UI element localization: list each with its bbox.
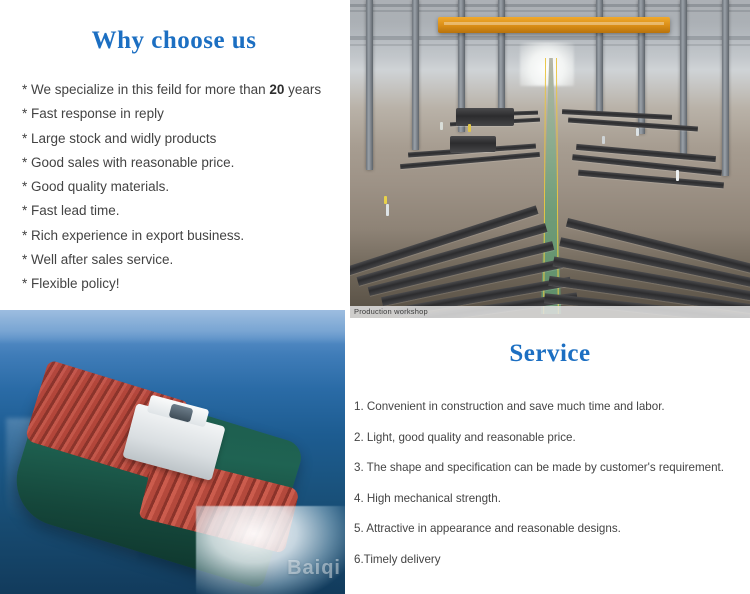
list-item: * Large stock and widly products <box>22 127 348 151</box>
list-item: * Well after sales service. <box>22 248 348 272</box>
worker-figure <box>468 124 471 132</box>
list-item: * Rich experience in export business. <box>22 224 348 248</box>
list-item: 3. The shape and specification can be ma… <box>354 453 750 484</box>
bullet-asterisk: * <box>22 179 31 194</box>
worker-figure <box>386 204 389 216</box>
list-item: * Fast response in reply <box>22 102 348 126</box>
bullet-asterisk: * <box>22 203 31 218</box>
list-item: * Good sales with reasonable price. <box>22 151 348 175</box>
bullet-asterisk: * <box>22 155 31 170</box>
far-doorway-light <box>520 42 574 86</box>
factory-photo-section: Production workshop <box>350 0 750 318</box>
list-item: 5. Attractive in appearance and reasonab… <box>354 514 750 545</box>
list-item-emphasis: 20 <box>269 82 284 97</box>
overhead-crane <box>438 17 670 33</box>
list-item-text: Fast response in reply <box>31 106 164 121</box>
worker-figure <box>384 196 387 204</box>
list-item-text: Fast lead time. <box>31 203 120 218</box>
machine-block-2 <box>450 136 496 152</box>
worker-figure <box>676 170 679 181</box>
production-workshop-image: Production workshop <box>350 0 750 318</box>
worker-figure <box>440 122 443 130</box>
list-item: * We specialize in this feild for more t… <box>22 78 348 102</box>
worker-figure <box>602 136 605 144</box>
list-item: 2. Light, good quality and reasonable pr… <box>354 423 750 454</box>
list-item: * Flexible policy! <box>22 272 348 296</box>
list-item: * Fast lead time. <box>22 199 348 223</box>
list-item-text: Flexible policy! <box>31 276 120 291</box>
list-item-text: Well after sales service. <box>31 252 173 267</box>
container-ship-image: Baiqi <box>0 310 345 594</box>
worker-figure <box>636 128 639 136</box>
bullet-asterisk: * <box>22 131 31 146</box>
list-item: 1. Convenient in construction and save m… <box>354 392 750 423</box>
list-item-text: Large stock and widly products <box>31 131 216 146</box>
list-item: * Good quality materials. <box>22 175 348 199</box>
why-choose-us-list: * We specialize in this feild for more t… <box>22 78 348 297</box>
bow-wake-foam <box>196 506 345 594</box>
machine-block <box>456 108 514 126</box>
service-title: Service <box>350 340 750 368</box>
list-item-text-tail: years <box>284 82 321 97</box>
bullet-asterisk: * <box>22 252 31 267</box>
promo-page: Why choose us * We specialize in this fe… <box>0 0 750 594</box>
list-item: 4. High mechanical strength. <box>354 484 750 515</box>
shipping-photo-section: Baiqi <box>0 310 345 594</box>
bullet-asterisk: * <box>22 82 31 97</box>
list-item: 6.Timely delivery <box>354 545 750 576</box>
service-section: Service 1. Convenient in construction an… <box>350 320 750 594</box>
why-choose-us-title: Why choose us <box>0 27 348 55</box>
horizon-haze <box>0 310 345 344</box>
why-choose-us-section: Why choose us * We specialize in this fe… <box>0 0 348 308</box>
bullet-asterisk: * <box>22 228 31 243</box>
list-item-text: Good sales with reasonable price. <box>31 155 234 170</box>
factory-photo-caption: Production workshop <box>350 306 750 318</box>
service-list: 1. Convenient in construction and save m… <box>354 392 750 576</box>
bullet-asterisk: * <box>22 276 31 291</box>
bullet-asterisk: * <box>22 106 31 121</box>
list-item-text: Rich experience in export business. <box>31 228 244 243</box>
list-item-text: We specialize in this feild for more tha… <box>31 82 269 97</box>
list-item-text: Good quality materials. <box>31 179 169 194</box>
